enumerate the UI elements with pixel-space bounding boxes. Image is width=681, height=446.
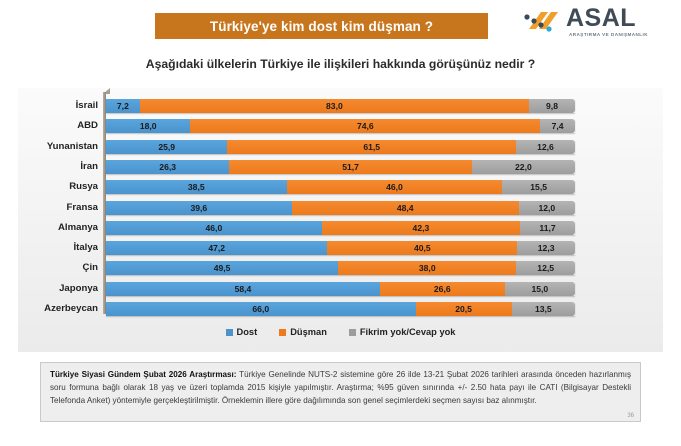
category-label: Almanya: [18, 221, 98, 235]
category-label: Japonya: [18, 282, 98, 296]
legend-swatch-icon: [279, 329, 286, 336]
category-label: Çin: [18, 261, 98, 275]
page-number: 36: [627, 413, 634, 419]
category-label: Azerbeycan: [18, 302, 98, 316]
chart-panel: İsrail7,283,09,8ABD18,074,67,4Yunanistan…: [18, 88, 663, 352]
category-label: İran: [18, 160, 98, 174]
legend-label: Dost: [237, 327, 258, 337]
bar-segment-fikrim-yok-cevap-yok: 9,8: [529, 99, 575, 113]
bar-segment-fikrim-yok-cevap-yok: 12,0: [519, 201, 575, 215]
bar-segment-fikrim-yok-cevap-yok: 7,4: [540, 119, 575, 133]
legend-item[interactable]: Düşman: [279, 327, 327, 337]
bar-segment-d-man: 26,6: [380, 282, 505, 296]
bar-segment-dost: 25,9: [106, 140, 227, 154]
bar-segment-d-man: 38,0: [338, 261, 516, 275]
bar-segment-dost: 26,3: [106, 160, 229, 174]
stacked-bar: 25,961,512,6: [106, 140, 575, 154]
bar-segment-d-man: 74,6: [190, 119, 540, 133]
stacked-bar: 39,648,412,0: [106, 201, 575, 215]
header: Türkiye'ye kim dost kim düşman ? ASAL AR…: [0, 0, 681, 48]
bar-segment-fikrim-yok-cevap-yok: 15,0: [505, 282, 575, 296]
page-title: Türkiye'ye kim dost kim düşman ?: [210, 19, 433, 34]
methodology-footnote: Türkiye Siyasi Gündem Şubat 2026 Araştır…: [40, 362, 641, 422]
stacked-bar: 38,546,015,5: [106, 180, 575, 194]
stacked-bar: 46,042,311,7: [106, 221, 575, 235]
bar-segment-d-man: 42,3: [322, 221, 520, 235]
logo-tagline: ARAŞTIRMA VE DANIŞMANLIK: [569, 32, 648, 37]
stacked-bar: 49,538,012,5: [106, 261, 575, 275]
chart-legend: DostDüşmanFikrim yok/Cevap yok: [18, 324, 663, 340]
bar-segment-dost: 66,0: [106, 302, 416, 316]
legend-swatch-icon: [226, 329, 233, 336]
bar-segment-fikrim-yok-cevap-yok: 11,7: [520, 221, 575, 235]
stacked-bar: 18,074,67,4: [106, 119, 575, 133]
chart-question-subtitle: Aşağıdaki ülkelerin Türkiye ile ilişkile…: [0, 57, 681, 71]
footnote-lead: Türkiye Siyasi Gündem Şubat 2026 Araştır…: [50, 370, 236, 379]
legend-label: Fikrim yok/Cevap yok: [360, 327, 456, 337]
category-label: Yunanistan: [18, 140, 98, 154]
bar-segment-fikrim-yok-cevap-yok: 12,6: [516, 140, 575, 154]
stacked-bar: 66,020,513,5: [106, 302, 575, 316]
bar-segment-d-man: 61,5: [227, 140, 515, 154]
bar-segment-dost: 18,0: [106, 119, 190, 133]
bar-segment-dost: 46,0: [106, 221, 322, 235]
stacked-bar: 26,351,722,0: [106, 160, 575, 174]
bar-segment-dost: 58,4: [106, 282, 380, 296]
stacked-bar: 58,426,615,0: [106, 282, 575, 296]
stacked-bar: 7,283,09,8: [106, 99, 575, 113]
bar-segment-d-man: 48,4: [292, 201, 519, 215]
bar-segment-dost: 38,5: [106, 180, 287, 194]
bar-segment-dost: 7,2: [106, 99, 140, 113]
legend-swatch-icon: [349, 329, 356, 336]
bar-segment-dost: 47,2: [106, 241, 327, 255]
asal-logo: ASAL ARAŞTIRMA VE DANIŞMANLIK: [521, 9, 661, 43]
logo-wordmark: ASAL: [566, 6, 636, 31]
bar-segment-d-man: 20,5: [416, 302, 512, 316]
bar-segment-fikrim-yok-cevap-yok: 12,3: [517, 241, 575, 255]
bar-segment-fikrim-yok-cevap-yok: 12,5: [516, 261, 575, 275]
category-label: ABD: [18, 119, 98, 133]
asal-logo-icon: [521, 10, 565, 34]
bar-segment-d-man: 51,7: [229, 160, 471, 174]
bar-segment-fikrim-yok-cevap-yok: 15,5: [502, 180, 575, 194]
bar-segment-fikrim-yok-cevap-yok: 22,0: [472, 160, 575, 174]
legend-label: Düşman: [290, 327, 327, 337]
bar-segment-d-man: 40,5: [327, 241, 517, 255]
bar-segment-d-man: 83,0: [140, 99, 529, 113]
category-label: Rusya: [18, 180, 98, 194]
chart-plot-area: İsrail7,283,09,8ABD18,074,67,4Yunanistan…: [18, 88, 663, 320]
bar-segment-fikrim-yok-cevap-yok: 13,5: [512, 302, 575, 316]
stacked-bar: 47,240,512,3: [106, 241, 575, 255]
legend-item[interactable]: Dost: [226, 327, 258, 337]
category-label: İtalya: [18, 241, 98, 255]
bar-segment-dost: 49,5: [106, 261, 338, 275]
bar-segment-dost: 39,6: [106, 201, 292, 215]
category-label: İsrail: [18, 99, 98, 113]
page-title-banner: Türkiye'ye kim dost kim düşman ?: [155, 13, 488, 39]
bar-segment-d-man: 46,0: [287, 180, 503, 194]
category-label: Fransa: [18, 201, 98, 215]
legend-item[interactable]: Fikrim yok/Cevap yok: [349, 327, 456, 337]
